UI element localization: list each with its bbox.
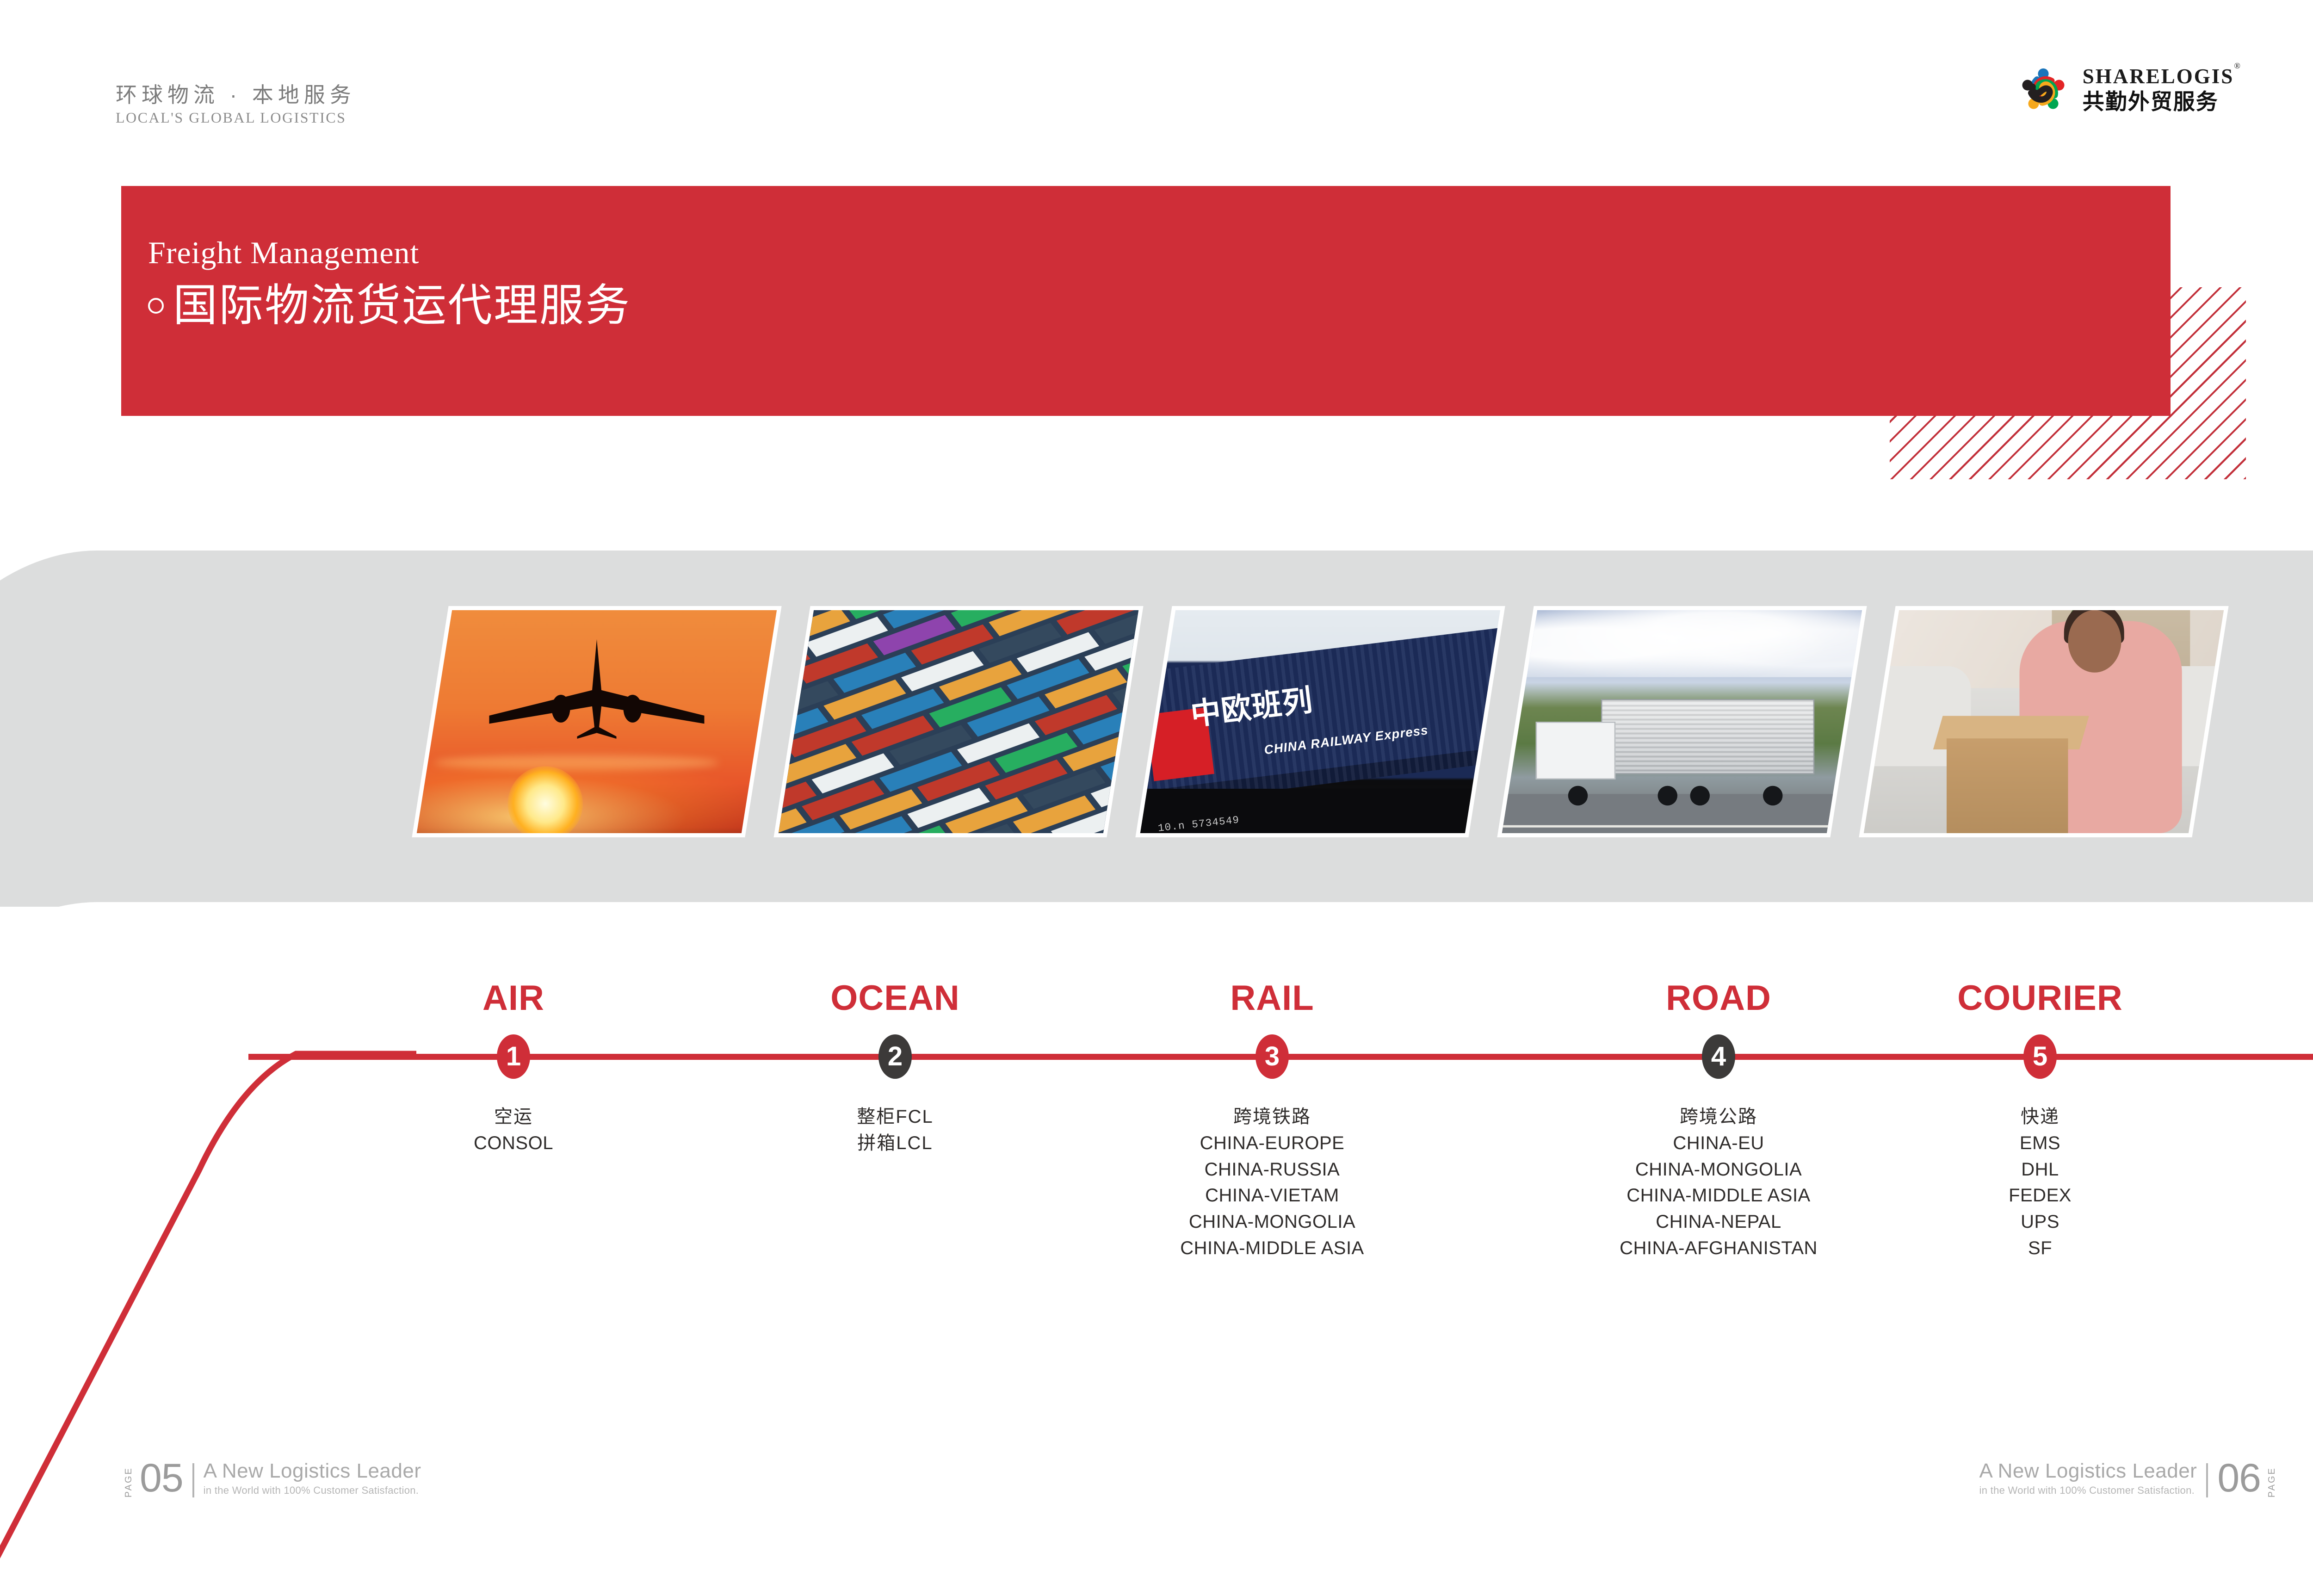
logo-text-block: SHARELOGIS® 共勤外贸服务 xyxy=(2083,66,2242,112)
brand-tagline: 环球物流 · 本地服务 LOCAL'S GLOBAL LOGISTICS xyxy=(116,84,356,125)
brand-tagline-en: LOCAL'S GLOBAL LOGISTICS xyxy=(116,110,356,125)
mode-items-ocean: 整柜FCL 拼箱LCL xyxy=(798,1104,992,1157)
mode-column-rail[interactable]: RAIL 3 跨境铁路 CHINA-EUROPE CHINA-RUSSIA CH… xyxy=(1129,981,1416,1262)
mode-items-road: 跨境公路 CHINA-EU CHINA-MONGOLIA CHINA-MIDDL… xyxy=(1566,1104,1871,1262)
banner-title-en: Freight Management xyxy=(148,237,631,268)
banner-text-block: Freight Management 国际物流货运代理服务 xyxy=(148,237,631,330)
mode-title-air: AIR xyxy=(416,981,611,1016)
sharelogis-people-icon xyxy=(2014,60,2072,118)
mode-badge-3: 3 xyxy=(1255,1034,1289,1079)
mode-title-rail: RAIL xyxy=(1129,981,1416,1016)
courier-photo xyxy=(1859,606,2228,837)
ocean-freight-photo xyxy=(773,606,1143,837)
mode-item: DHL xyxy=(1943,1157,2137,1183)
air-freight-photo xyxy=(412,606,781,837)
mode-item: CHINA-EU xyxy=(1566,1130,1871,1157)
logo-name-text: SHARELOGIS xyxy=(2083,65,2234,88)
banner-title-cn-row: 国际物流货运代理服务 xyxy=(148,281,631,330)
mode-item: SF xyxy=(1943,1235,2137,1262)
mode-column-courier[interactable]: COURIER 5 快递 EMS DHL FEDEX UPS SF xyxy=(1943,981,2137,1262)
mode-item: EMS xyxy=(1943,1130,2137,1157)
mode-badge-4: 4 xyxy=(1702,1034,1735,1079)
container-yard-art xyxy=(779,610,1138,833)
mode-title-ocean: OCEAN xyxy=(798,981,992,1016)
mode-title-courier: COURIER xyxy=(1943,981,2137,1016)
mode-item: 快递 xyxy=(1943,1104,2137,1130)
mode-item: CHINA-MIDDLE ASIA xyxy=(1566,1182,1871,1209)
circle-bullet-icon xyxy=(148,298,164,314)
mode-item: CHINA-MONGOLIA xyxy=(1566,1157,1871,1183)
mode-column-air[interactable]: AIR 1 空运 CONSOL xyxy=(416,981,611,1157)
rail-freight-photo: 中欧班列 CHINA RAILWAY Express 10.n 5734549 xyxy=(1135,606,1505,837)
mode-column-road[interactable]: ROAD 4 跨境公路 CHINA-EU CHINA-MONGOLIA CHIN… xyxy=(1566,981,1871,1262)
mode-item: CHINA-MIDDLE ASIA xyxy=(1129,1235,1416,1262)
company-logo: SHARELOGIS® 共勤外贸服务 xyxy=(2014,60,2242,118)
mode-items-courier: 快递 EMS DHL FEDEX UPS SF xyxy=(1943,1104,2137,1262)
mode-item: CONSOL xyxy=(416,1130,611,1157)
mode-item: CHINA-NEPAL xyxy=(1566,1209,1871,1235)
mode-item: 跨境公路 xyxy=(1566,1104,1871,1130)
mode-item: 拼箱LCL xyxy=(798,1130,992,1157)
airplane-icon xyxy=(476,635,718,742)
section-banner: Freight Management 国际物流货运代理服务 xyxy=(121,186,2171,416)
mode-item: CHINA-RUSSIA xyxy=(1129,1157,1416,1183)
banner-title-cn: 国际物流货运代理服务 xyxy=(173,281,631,330)
registered-icon: ® xyxy=(2234,61,2242,70)
mode-badge-1: 1 xyxy=(497,1034,530,1079)
mode-items-rail: 跨境铁路 CHINA-EUROPE CHINA-RUSSIA CHINA-VIE… xyxy=(1129,1104,1416,1262)
road-freight-photo xyxy=(1497,606,1867,837)
mode-badge-2: 2 xyxy=(878,1034,912,1079)
logo-name: SHARELOGIS® xyxy=(2083,66,2242,87)
mode-item: 空运 xyxy=(416,1104,611,1130)
mode-item: CHINA-MONGOLIA xyxy=(1129,1209,1416,1235)
brand-tagline-cn: 环球物流 · 本地服务 xyxy=(116,84,356,105)
mode-items-air: 空运 CONSOL xyxy=(416,1104,611,1157)
mode-column-ocean[interactable]: OCEAN 2 整柜FCL 拼箱LCL xyxy=(798,981,992,1157)
logo-name-cn: 共勤外贸服务 xyxy=(2083,91,2242,112)
mode-item: 跨境铁路 xyxy=(1129,1104,1416,1130)
mode-item: CHINA-VIETAM xyxy=(1129,1182,1416,1209)
slide-root: 环球物流 · 本地服务 LOCAL'S GLOBAL LOGISTICS xyxy=(0,0,2313,1596)
mode-item: FEDEX xyxy=(1943,1182,2137,1209)
photo-strip: 中欧班列 CHINA RAILWAY Express 10.n 5734549 xyxy=(0,606,2313,837)
mode-badge-5: 5 xyxy=(2023,1034,2057,1079)
mode-item: CHINA-EUROPE xyxy=(1129,1130,1416,1157)
transport-mode-columns: AIR 1 空运 CONSOL OCEAN 2 整柜FCL 拼箱LCL RAIL… xyxy=(0,981,2313,1490)
mode-item: UPS xyxy=(1943,1209,2137,1235)
mode-item: 整柜FCL xyxy=(798,1104,992,1130)
mode-item: CHINA-AFGHANISTAN xyxy=(1566,1235,1871,1262)
mode-title-road: ROAD xyxy=(1566,981,1871,1016)
